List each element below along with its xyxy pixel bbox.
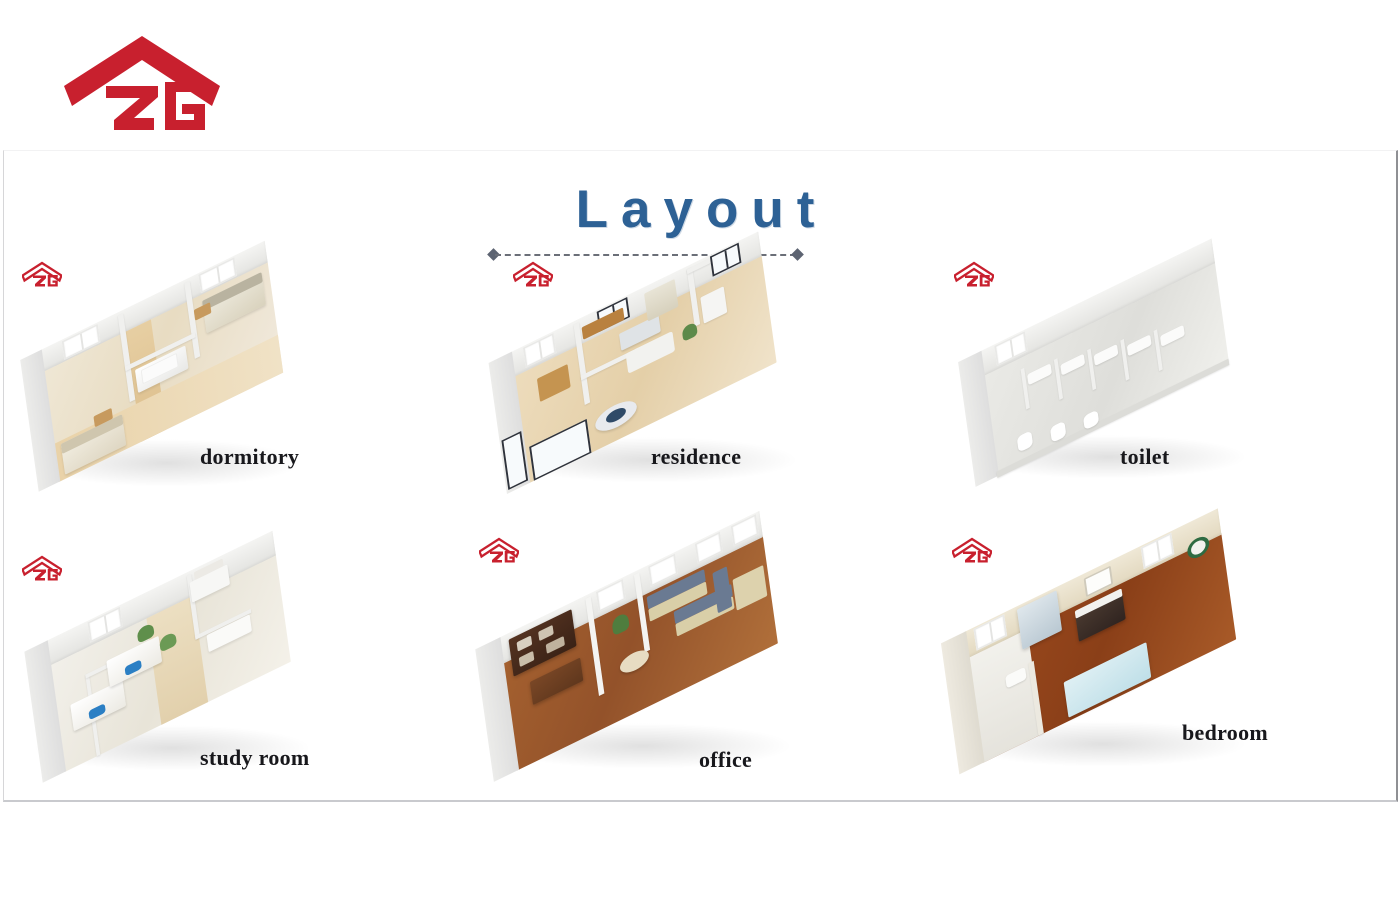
room-label-study-room: study room: [200, 745, 310, 771]
room-card-dormitory[interactable]: dormitory: [4, 259, 469, 535]
2g-house-logo-icon: [62, 30, 222, 138]
room-card-study-room[interactable]: study room: [4, 535, 469, 811]
room-card-residence[interactable]: residence: [469, 259, 934, 535]
page-title: Layout: [576, 183, 828, 236]
house-logo-badge-icon: [954, 259, 994, 291]
room-card-toilet[interactable]: toilet: [934, 259, 1399, 535]
room-grid: dormitory: [4, 259, 1399, 811]
room-label-bedroom: bedroom: [1182, 720, 1268, 746]
brand-logo: [62, 30, 222, 138]
house-logo-badge-icon: [952, 535, 992, 567]
house-logo-badge-icon: [513, 259, 553, 291]
slide-page: Layout: [0, 0, 1400, 900]
room-illustration-residence: [485, 277, 805, 463]
house-logo-badge-icon: [22, 259, 62, 291]
house-logo-badge-icon: [479, 535, 519, 567]
slide-frame: Layout: [3, 150, 1398, 802]
page-title-block: Layout: [4, 183, 1399, 236]
house-logo-badge-icon: [22, 553, 62, 585]
room-illustration-office: [475, 559, 805, 749]
room-label-dormitory: dormitory: [200, 444, 299, 470]
room-illustration-dormitory: [18, 281, 308, 461]
room-card-office[interactable]: office: [469, 535, 934, 811]
room-illustration-bedroom: [942, 557, 1262, 743]
room-card-bedroom[interactable]: bedroom: [934, 535, 1399, 811]
room-illustration-toilet: [956, 281, 1256, 461]
room-label-office: office: [699, 747, 752, 773]
room-label-toilet: toilet: [1120, 444, 1169, 470]
room-label-residence: residence: [651, 444, 741, 470]
room-illustration-study-room: [20, 575, 320, 755]
